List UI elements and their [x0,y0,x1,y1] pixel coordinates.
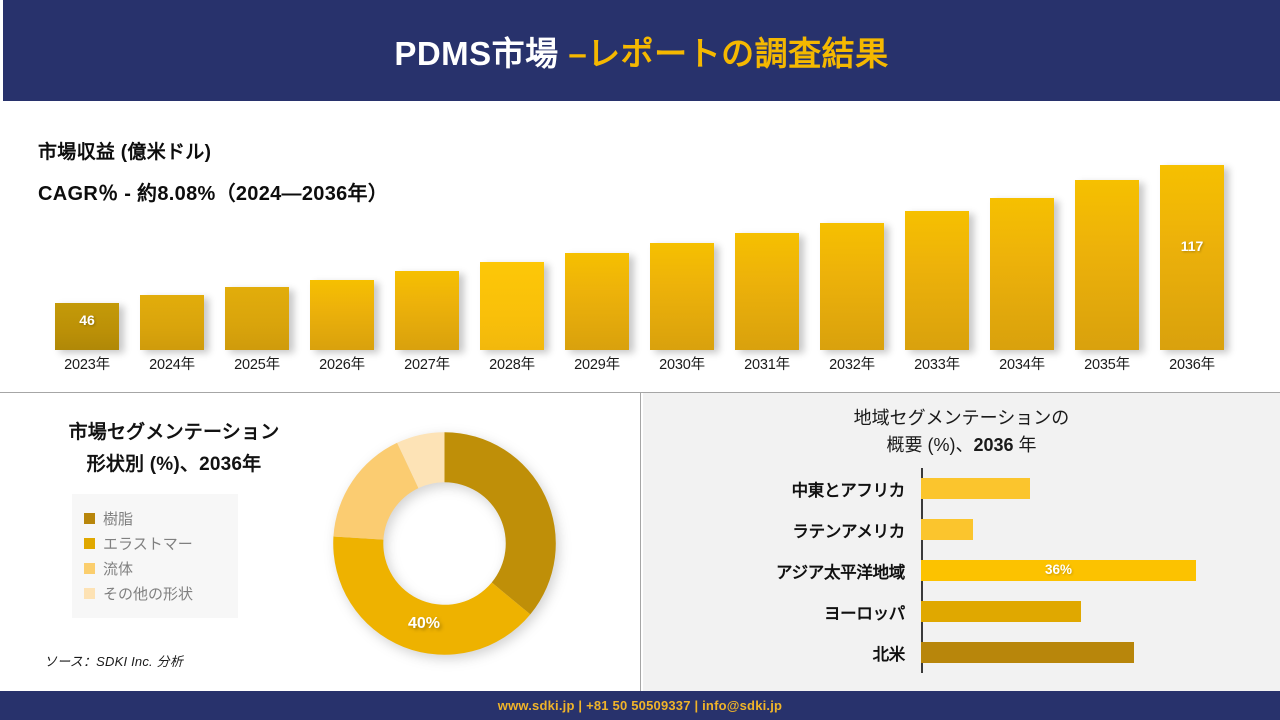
donut-slice-resin[interactable] [445,432,556,614]
region-title-post: 年 [1014,435,1037,455]
region-label: ラテンアメリカ [689,518,915,542]
source-note: ソース：SDKI Inc. 分析 [44,651,183,670]
region-bar-track [915,509,1270,550]
legend-item-elastomer[interactable]: エラストマー [84,531,228,556]
bar-column [392,121,462,350]
infographic-page: PDMS市場 –レポートの調査結果 市場収益 (億米ドル) CAGR％ - 約8… [0,0,1280,720]
bar-column [987,121,1057,350]
axis-label-2030: 2030年 [647,353,717,374]
segmentation-title: 市場セグメンテーション 形状別 (%)、2036年 [24,417,324,481]
bar-column [902,121,972,350]
bar-2024 [140,295,204,350]
footer-contact-text[interactable]: www.sdki.jp | +81 50 50509337 | info@sdk… [498,698,782,713]
bar-column [647,121,717,350]
region-bar-chart: 中東とアフリカ ラテンアメリカ アジア太平洋地域 36% [689,468,1270,673]
bar-2025 [225,287,289,350]
region-bar-apac[interactable]: 36% [921,560,1196,581]
legend-swatch-icon [84,513,95,524]
bar-2033 [905,211,969,350]
bar-2032 [820,223,884,350]
legend-swatch-icon [84,538,95,549]
region-label: ヨーロッパ [689,600,915,624]
bar-2029 [565,253,629,350]
bar-column [307,121,377,350]
bar-column [562,121,632,350]
region-title: 地域セグメンテーションの 概要 (%)、2036 年 [643,405,1280,459]
axis-label-2027: 2027年 [392,353,462,374]
donut-chart: 40% [312,411,577,676]
bar-column [732,121,802,350]
axis-label-2023: 2023年 [52,353,122,374]
axis-label-2032: 2032年 [817,353,887,374]
revenue-axis-labels: 2023年 2024年 2025年 2026年 2027年 2028年 2029… [52,353,1227,374]
bar-2023: 46 [55,303,119,350]
region-bar-latam[interactable] [921,519,973,540]
legend-label: 樹脂 [103,508,133,529]
bar-2036: 117 [1160,165,1224,350]
legend-item-resin[interactable]: 樹脂 [84,506,228,531]
segmentation-legend: 樹脂 エラストマー 流体 その他の形状 [72,494,238,618]
page-title: PDMS市場 –レポートの調査結果 [394,27,888,75]
revenue-bar-plot: 46 [52,121,1227,350]
segmentation-section: 市場セグメンテーション 形状別 (%)、2036年 樹脂 エラストマー 流体 そ… [0,393,640,691]
region-title-year: 2036 [973,435,1013,455]
bar-column: 117 [1157,121,1227,350]
segmentation-title-line1: 市場セグメンテーション [24,417,324,449]
region-title-pre: 概要 (%)、 [886,435,973,455]
axis-label-2029: 2029年 [562,353,632,374]
axis-label-2031: 2031年 [732,353,802,374]
region-row-mea: 中東とアフリカ [689,468,1270,509]
region-row-europe: ヨーロッパ [689,591,1270,632]
region-bar-track [915,468,1270,509]
region-row-apac: アジア太平洋地域 36% [689,550,1270,591]
bar-2034 [990,198,1054,350]
bar-2026 [310,280,374,350]
page-title-accent: –レポートの調査結果 [568,35,888,72]
region-row-latam: ラテンアメリカ [689,509,1270,550]
region-chart-section: 地域セグメンテーションの 概要 (%)、2036 年 中東とアフリカ ラテンアメ… [643,393,1280,691]
legend-item-fluid[interactable]: 流体 [84,556,228,581]
donut-chart-svg [312,411,577,676]
axis-label-2033: 2033年 [902,353,972,374]
bar-column [1072,121,1142,350]
region-row-northamerica: 北米 [689,632,1270,673]
region-bar-track [915,591,1270,632]
vertical-divider [640,393,641,691]
region-bar-track: 36% [915,550,1270,591]
axis-label-2026: 2026年 [307,353,377,374]
page-title-primary: PDMS市場 [394,35,568,72]
bar-2030 [650,243,714,350]
donut-slice-elastomer[interactable] [333,537,530,655]
axis-label-2028: 2028年 [477,353,547,374]
region-bar-value-apac: 36% [921,562,1196,577]
region-title-line2: 概要 (%)、2036 年 [643,432,1280,459]
legend-label: その他の形状 [103,583,193,604]
region-title-line1: 地域セグメンテーションの [643,405,1280,432]
legend-item-other-shapes[interactable]: その他の形状 [84,581,228,606]
axis-label-2035: 2035年 [1072,353,1142,374]
bar-value-2036: 117 [1160,238,1224,254]
region-label: 北米 [689,641,915,665]
region-bar-mea[interactable] [921,478,1030,499]
region-label: アジア太平洋地域 [689,559,915,583]
bar-2028 [480,262,544,350]
legend-swatch-icon [84,588,95,599]
bar-column [817,121,887,350]
region-label: 中東とアフリカ [689,477,915,501]
revenue-chart-section: 市場収益 (億米ドル) CAGR％ - 約8.08%（2024―2036年） 4… [0,101,1280,392]
legend-label: 流体 [103,558,133,579]
segmentation-title-line2: 形状別 (%)、2036年 [24,449,324,481]
bar-column [222,121,292,350]
bar-2031 [735,233,799,350]
region-bar-northamerica[interactable] [921,642,1134,663]
legend-swatch-icon [84,563,95,574]
bar-column [137,121,207,350]
axis-label-2024: 2024年 [137,353,207,374]
bar-value-2023: 46 [55,312,119,328]
bar-2027 [395,271,459,350]
revenue-bar-chart: 46 [52,121,1227,387]
bar-column: 46 [52,121,122,350]
bar-2035 [1075,180,1139,350]
axis-label-2034: 2034年 [987,353,1057,374]
axis-label-2036: 2036年 [1157,353,1227,374]
legend-label: エラストマー [103,533,193,554]
region-bar-europe[interactable] [921,601,1081,622]
page-header: PDMS市場 –レポートの調査結果 [3,0,1280,101]
axis-label-2025: 2025年 [222,353,292,374]
donut-data-label: 40% [408,615,440,633]
page-footer: www.sdki.jp | +81 50 50509337 | info@sdk… [0,691,1280,720]
bar-column [477,121,547,350]
region-bar-track [915,632,1270,673]
